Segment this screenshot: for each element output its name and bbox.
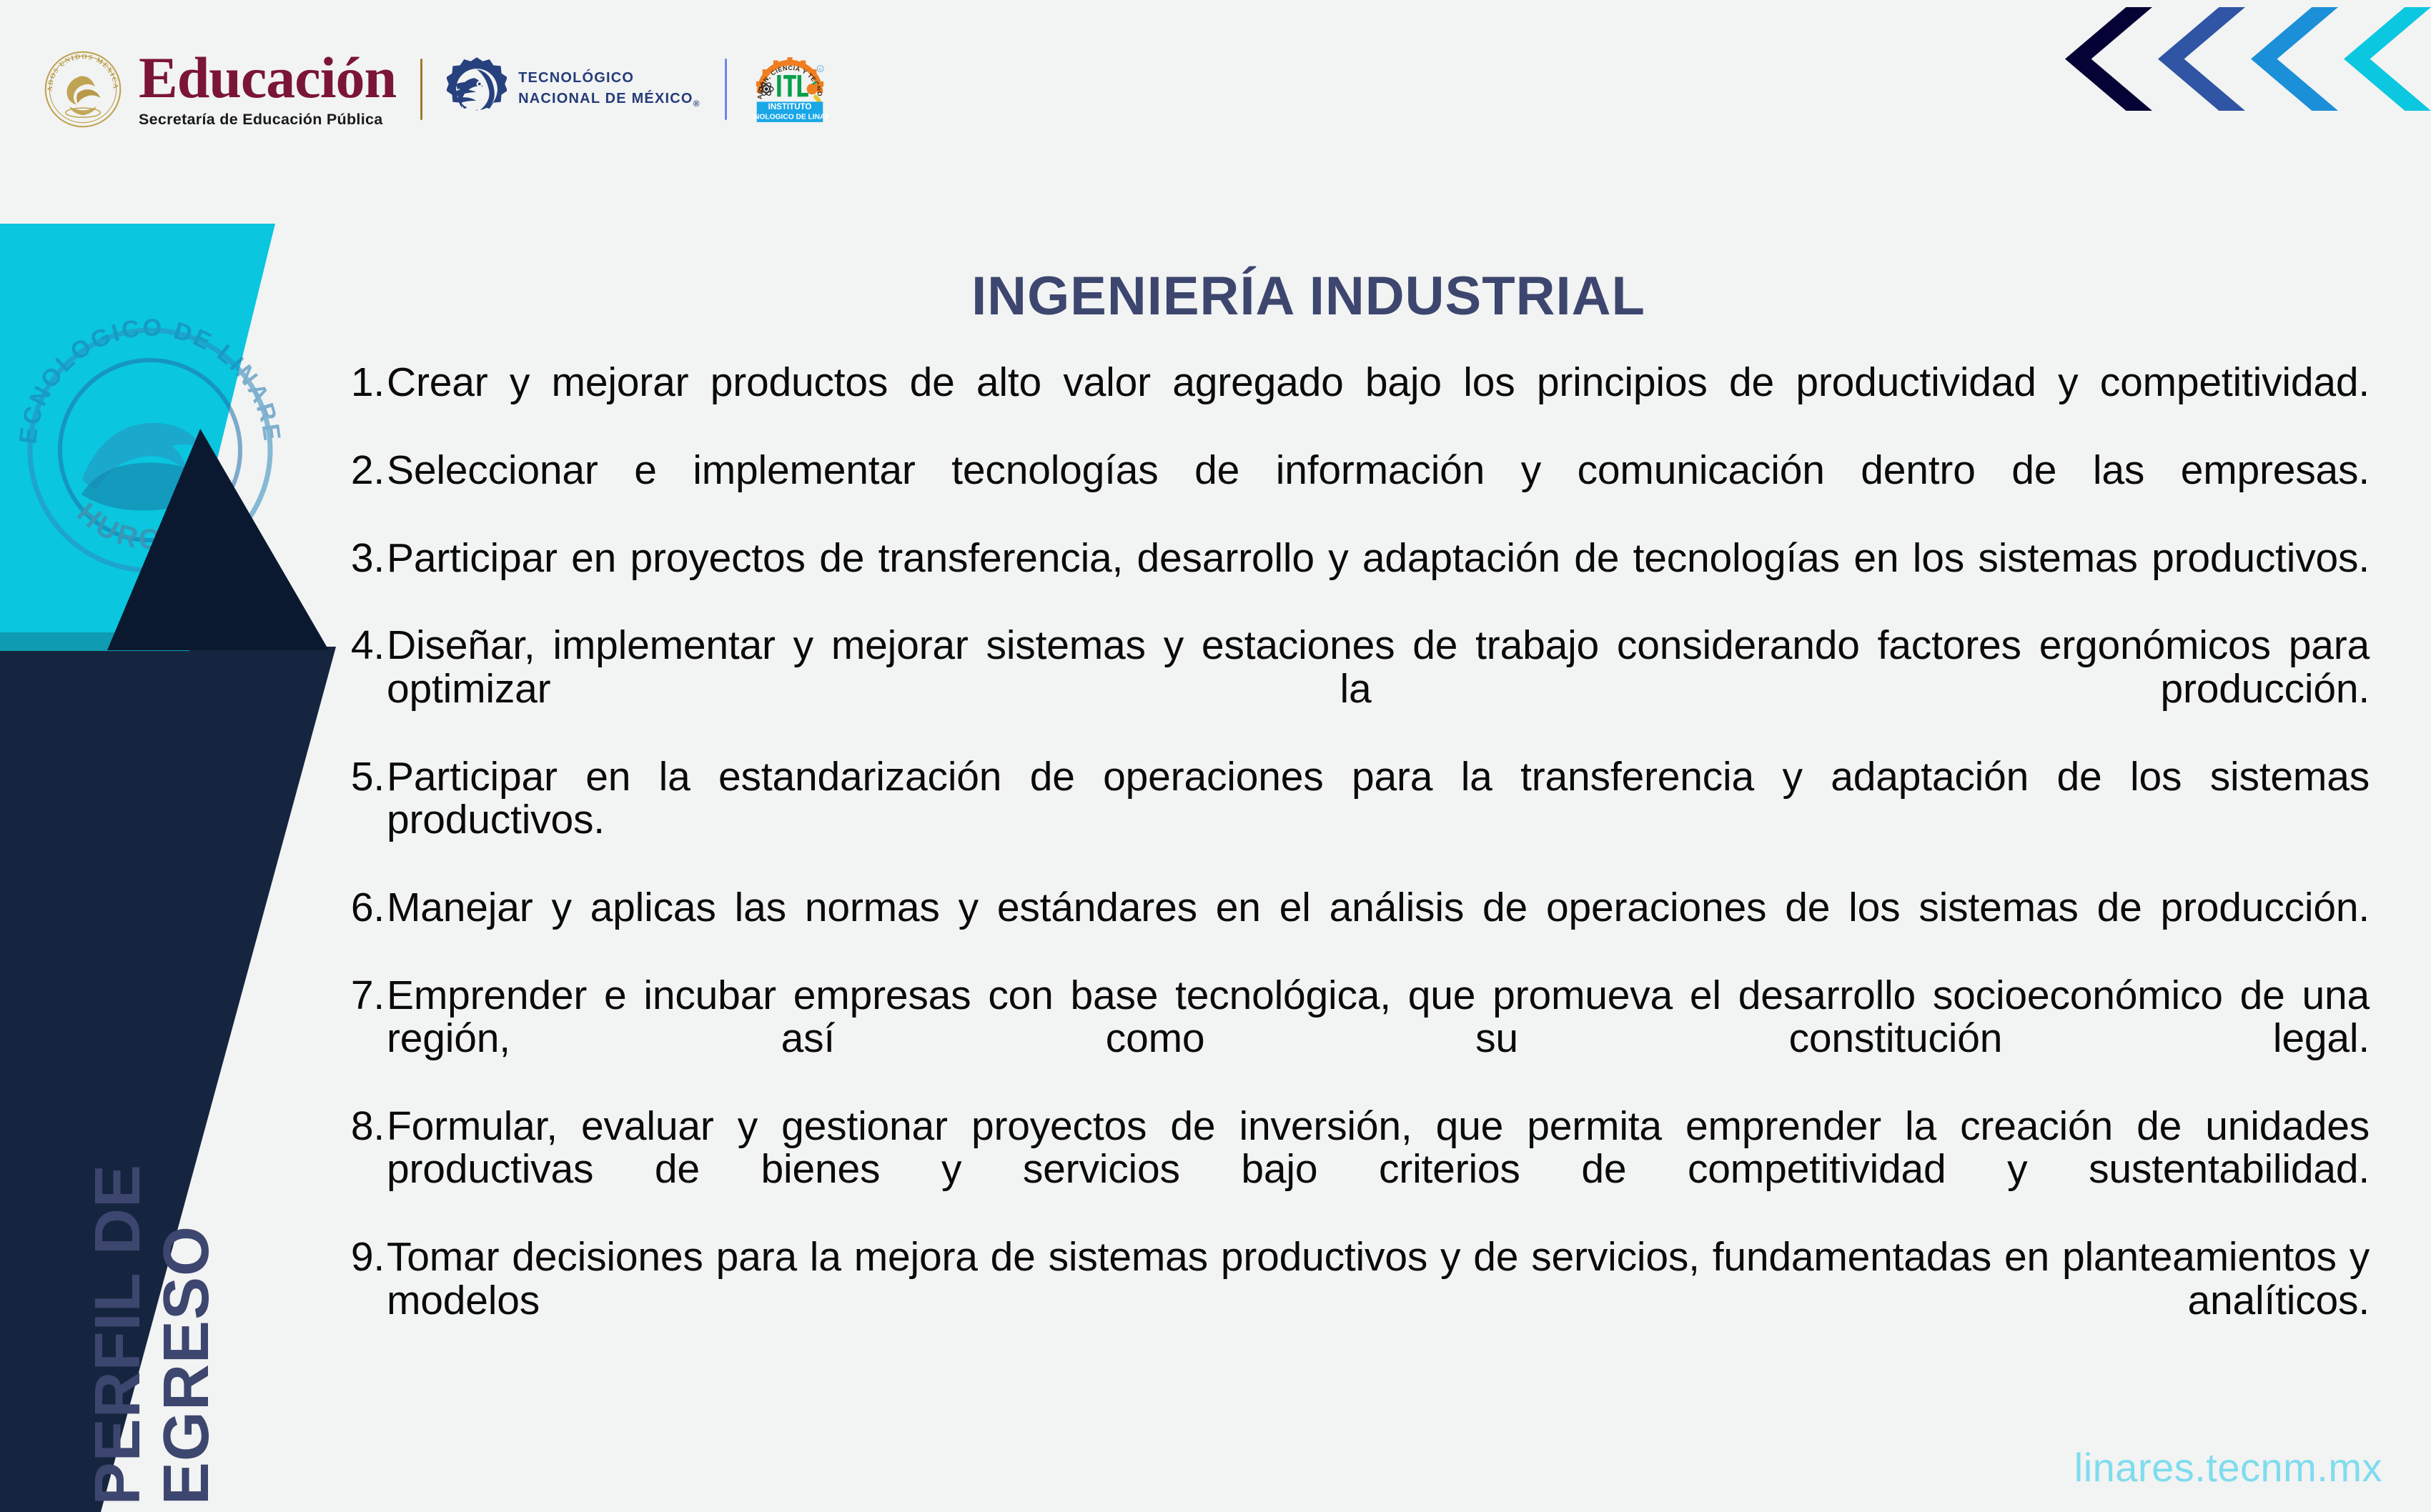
list-item-number: 6. (343, 886, 387, 929)
logo-divider-blue (725, 59, 727, 120)
education-wordmark: Educación Secretaría de Educación Públic… (139, 50, 396, 129)
list-item-text: Crear y mejorar productos de alto valor … (387, 361, 2370, 447)
logo-divider-gold (420, 59, 422, 120)
list-item-number: 2. (343, 449, 387, 492)
itl-institute-logo: EDUCACIÓN, CIENCIA Y TECNOLOGÍA INSTITUT… (751, 52, 828, 127)
list-item-text: Participar en la estandarización de oper… (387, 755, 2370, 885)
tecnm-registered-mark: ® (693, 99, 700, 109)
svg-text:R: R (819, 67, 822, 71)
chevron-left-icon-3 (2251, 7, 2338, 111)
chevron-decoration-group (2065, 7, 2431, 111)
list-item: 2. Seleccionar e implementar tecnologías… (343, 449, 2370, 535)
list-item-number: 4. (343, 624, 387, 667)
list-item-number: 9. (343, 1235, 387, 1278)
section-label-line1: PERFIL DE (86, 1164, 150, 1505)
list-item-number: 1. (343, 361, 387, 404)
list-item-number: 7. (343, 974, 387, 1017)
site-url-text[interactable]: linares.tecnm.mx (2074, 1444, 2382, 1491)
list-item: 6. Manejar y aplicas las normas y estánd… (343, 886, 2370, 973)
tecnm-line2: NACIONAL DE MÉXICO (518, 91, 693, 106)
list-item: 9. Tomar decisiones para la mejora de si… (343, 1235, 2370, 1365)
section-label-line2: EGRESO (154, 1225, 219, 1505)
list-item: 1. Crear y mejorar productos de alto val… (343, 361, 2370, 447)
tecnm-gear-icon (447, 55, 507, 124)
list-item: 5. Participar en la estandarización de o… (343, 755, 2370, 885)
chevron-left-icon-2 (2158, 7, 2245, 111)
mexican-coat-of-arms-icon: ESTADOS UNIDOS MEXICANOS (43, 49, 123, 129)
list-item-number: 3. (343, 537, 387, 580)
profile-list: 1. Crear y mejorar productos de alto val… (343, 361, 2370, 1366)
header-logo-bar: ESTADOS UNIDOS MEXICANOS Educación Secre… (0, 0, 1072, 179)
education-subtitle: Secretaría de Educación Pública (139, 111, 396, 129)
tecnm-line2-wrap: NACIONAL DE MÉXICO® (518, 89, 700, 110)
tecnm-logo: TECNOLÓGICO NACIONAL DE MÉXICO® (447, 55, 700, 124)
list-item-number: 5. (343, 755, 387, 798)
list-item-text: Seleccionar e implementar tecnologías de… (387, 449, 2370, 535)
list-item-number: 8. (343, 1105, 387, 1148)
page-title: INGENIERÍA INDUSTRIAL (0, 265, 2431, 327)
list-item-text: Tomar decisiones para la mejora de siste… (387, 1235, 2370, 1365)
svg-text:TECNOLOGICO DE LINARES: TECNOLOGICO DE LINARES (751, 113, 828, 121)
list-item-text: Manejar y aplicas las normas y estándare… (387, 886, 2370, 973)
list-item: 4. Diseñar, implementar y mejorar sistem… (343, 624, 2370, 753)
list-item-text: Formular, evaluar y gestionar proyectos … (387, 1105, 2370, 1234)
list-item: 3. Participar en proyectos de transferen… (343, 537, 2370, 623)
tecnm-line1: TECNOLÓGICO (518, 68, 700, 89)
svg-text:INSTITUTO: INSTITUTO (768, 103, 811, 111)
tecnm-wordmark: TECNOLÓGICO NACIONAL DE MÉXICO® (518, 68, 700, 110)
list-item-text: Diseñar, implementar y mejorar sistemas … (387, 624, 2370, 753)
list-item-text: Emprender e incubar empresas con base te… (387, 974, 2370, 1103)
list-item: 7. Emprender e incubar empresas con base… (343, 974, 2370, 1103)
chevron-left-icon-4 (2344, 7, 2431, 111)
education-title: Educación (139, 50, 396, 106)
list-item-text: Participar en proyectos de transferencia… (387, 537, 2370, 623)
list-item: 8. Formular, evaluar y gestionar proyect… (343, 1105, 2370, 1234)
section-vertical-label: PERFIL DE EGRESO (86, 1164, 219, 1505)
chevron-left-icon-1 (2065, 7, 2152, 111)
